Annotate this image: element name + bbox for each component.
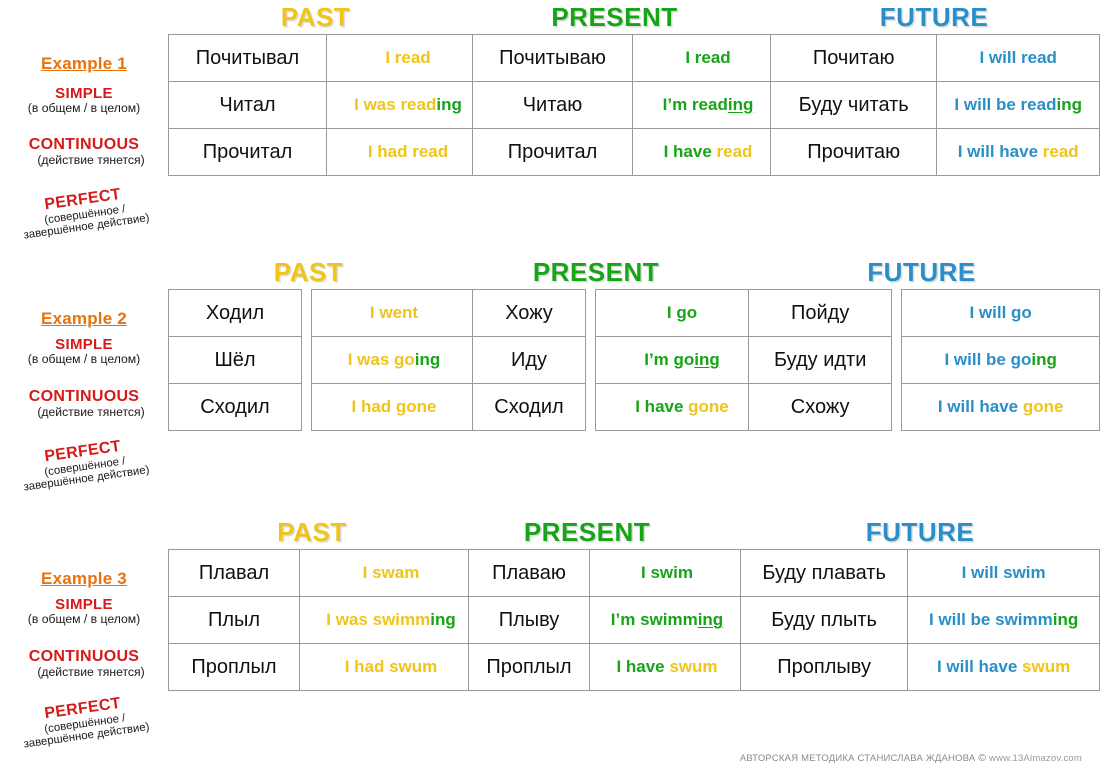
verb-base: I had swum bbox=[345, 657, 438, 676]
table-row: ПроплылI have swum bbox=[469, 644, 745, 691]
english-cell: I will have gone bbox=[902, 384, 1100, 431]
aspect-label-perfect: PERFECT(совершённое /завершённое действи… bbox=[0, 180, 171, 245]
verb-base: I will be read bbox=[954, 95, 1056, 114]
tense-table: ПочитываюI readЧитаюI’m readingПрочиталI… bbox=[472, 34, 784, 176]
verb-base: I read bbox=[685, 48, 730, 67]
tense-table-group: ПочитаюI will readБуду читатьI will be r… bbox=[770, 34, 1100, 176]
copyright-icon: © bbox=[978, 752, 986, 764]
aspect-subtitle: (действие тянется) bbox=[14, 666, 168, 679]
suffix-ing: ing bbox=[430, 610, 456, 629]
russian-cell: Хожу bbox=[473, 290, 586, 337]
table-row: Буду плаватьI will swim bbox=[741, 550, 1100, 597]
english-table: I will goI will be goingI will have gone bbox=[901, 289, 1100, 431]
tense-heading-present: PRESENT bbox=[462, 517, 712, 547]
english-cell: I went bbox=[312, 290, 477, 337]
verb-base: I was read bbox=[354, 95, 436, 114]
tense-heading-past: PAST bbox=[168, 517, 456, 547]
russian-cell: Прочитаю bbox=[771, 129, 937, 176]
russian-cell: Схожу bbox=[749, 384, 892, 431]
tense-table-group: ХожуИдуСходилI goI’m goingI have gone bbox=[472, 289, 769, 431]
table-row: ПрочитаюI will have read bbox=[771, 129, 1100, 176]
english-cell: I will have read bbox=[937, 129, 1100, 176]
example-label-column: Example 2SIMPLE(в общем / в целом)CONTIN… bbox=[0, 289, 168, 494]
russian-cell: Плыву bbox=[469, 597, 590, 644]
english-cell: I read bbox=[633, 35, 784, 82]
verb-base: I will have bbox=[937, 657, 1022, 676]
table-row: Пойду bbox=[749, 290, 892, 337]
suffix-ing: ing bbox=[1053, 610, 1079, 629]
tense-table-group: ПочитываюI readЧитаюI’m readingПрочиталI… bbox=[472, 34, 784, 176]
aspect-label-simple: SIMPLE(в общем / в целом) bbox=[0, 597, 168, 626]
suffix-ing: ing bbox=[728, 95, 754, 114]
aspect-subtitle: (в общем / в целом) bbox=[0, 102, 168, 115]
tense-heading-past: PAST bbox=[168, 257, 449, 287]
english-cell: I’m going bbox=[596, 337, 769, 384]
russian-cell: Сходил bbox=[169, 384, 302, 431]
russian-cell: Почитывал bbox=[169, 35, 327, 82]
table-row: I was going bbox=[312, 337, 477, 384]
table-row: ПлаваюI swim bbox=[469, 550, 745, 597]
table-row: ПлавалI swam bbox=[169, 550, 483, 597]
english-cell: I will read bbox=[937, 35, 1100, 82]
tense-table-group: ПлаваюI swimПлывуI’m swimmingПроплылI ha… bbox=[468, 549, 745, 691]
verb-base: I’m go bbox=[644, 350, 694, 369]
tense-table-group: ПочитывалI readЧиталI was readingПрочита… bbox=[168, 34, 490, 176]
example-title: Example 2 bbox=[0, 309, 168, 329]
russian-cell: Иду bbox=[473, 337, 586, 384]
english-cell: I had gone bbox=[312, 384, 477, 431]
table-row: ПрочиталI had read bbox=[169, 129, 490, 176]
tense-column-future: FUTUREБуду плаватьI will swimБуду плытьI… bbox=[740, 549, 1100, 691]
russian-cell: Шёл bbox=[169, 337, 302, 384]
english-cell: I had read bbox=[327, 129, 490, 176]
footer-text: АВТОРСКАЯ МЕТОДИКА СТАНИСЛАВА ЖДАНОВА bbox=[740, 753, 976, 764]
english-table: I wentI was goingI had gone bbox=[311, 289, 477, 431]
english-cell: I was going bbox=[312, 337, 477, 384]
tense-table-group: Буду плаватьI will swimБуду плытьI will … bbox=[740, 549, 1100, 691]
russian-cell: Плыл bbox=[169, 597, 300, 644]
english-cell: I will be going bbox=[902, 337, 1100, 384]
english-cell: I will be reading bbox=[937, 82, 1100, 129]
tense-table: Буду плаватьI will swimБуду плытьI will … bbox=[740, 549, 1100, 691]
verb-base: I went bbox=[370, 303, 418, 322]
table-row: ПроплывуI will have swum bbox=[741, 644, 1100, 691]
aspect-label-perfect: PERFECT(совершённое /завершённое действи… bbox=[0, 432, 171, 497]
russian-cell: Почитаю bbox=[771, 35, 937, 82]
suffix-ing: ing bbox=[694, 350, 720, 369]
past-participle: swum bbox=[1022, 657, 1070, 676]
table-row: ПочитывалI read bbox=[169, 35, 490, 82]
russian-cell: Плаваю bbox=[469, 550, 590, 597]
table-row: ПочитываюI read bbox=[473, 35, 784, 82]
verb-base: I will go bbox=[969, 303, 1031, 322]
english-cell: I have gone bbox=[596, 384, 769, 431]
russian-cell: Проплыл bbox=[469, 644, 590, 691]
tense-table-group: ПлавалI swamПлылI was swimmingПроплылI h… bbox=[168, 549, 483, 691]
table-row: ПлылI was swimming bbox=[169, 597, 483, 644]
tense-table: ПлаваюI swimПлывуI’m swimmingПроплылI ha… bbox=[468, 549, 745, 691]
grammar-chart-page: Example 1SIMPLE(в общем / в целом)CONTIN… bbox=[0, 0, 1100, 772]
russian-table: ПойдуБуду идтиСхожу bbox=[748, 289, 892, 431]
verb-base: I will have bbox=[958, 142, 1043, 161]
russian-cell: Проплыву bbox=[741, 644, 908, 691]
tense-column-past: PASTХодилШёлСходилI wentI was goingI had… bbox=[168, 289, 477, 431]
aspect-title: CONTINUOUS bbox=[0, 137, 168, 154]
past-participle: gone bbox=[688, 397, 729, 416]
aspect-label-continuous: CONTINUOUS(действие тянется) bbox=[0, 137, 168, 167]
tense-table: ПочитывалI readЧиталI was readingПрочита… bbox=[168, 34, 490, 176]
english-cell: I read bbox=[327, 35, 490, 82]
tense-column-future: FUTUREПойдуБуду идтиСхожуI will goI will… bbox=[748, 289, 1100, 431]
table-row: Сходил bbox=[169, 384, 302, 431]
english-cell: I swim bbox=[590, 550, 745, 597]
suffix-ing: ing bbox=[1031, 350, 1057, 369]
russian-cell: Буду плавать bbox=[741, 550, 908, 597]
russian-cell: Прочитал bbox=[169, 129, 327, 176]
russian-cell: Плавал bbox=[169, 550, 300, 597]
tense-heading-future: FUTURE bbox=[748, 257, 1095, 287]
aspect-title: SIMPLE bbox=[0, 337, 168, 353]
tense-column-present: PRESENTПочитываюI readЧитаюI’m readingПр… bbox=[472, 34, 784, 176]
table-row: Буду читатьI will be reading bbox=[771, 82, 1100, 129]
english-cell: I’m reading bbox=[633, 82, 784, 129]
aspect-label-simple: SIMPLE(в общем / в целом) bbox=[0, 337, 168, 366]
russian-cell: Почитываю bbox=[473, 35, 633, 82]
table-row: ПрочиталI have read bbox=[473, 129, 784, 176]
table-row: Шёл bbox=[169, 337, 302, 384]
example-label-column: Example 3SIMPLE(в общем / в целом)CONTIN… bbox=[0, 549, 168, 754]
aspect-subtitle: (действие тянется) bbox=[14, 154, 168, 167]
verb-base: I have bbox=[635, 397, 688, 416]
aspect-title: CONTINUOUS bbox=[0, 649, 168, 666]
tense-column-present: PRESENTПлаваюI swimПлывуI’m swimmingПроп… bbox=[468, 549, 745, 691]
english-cell: I will have swum bbox=[908, 644, 1100, 691]
english-cell: I will swim bbox=[908, 550, 1100, 597]
verb-base: I read bbox=[385, 48, 430, 67]
russian-table: ХожуИдуСходил bbox=[472, 289, 586, 431]
verb-base: I had read bbox=[368, 142, 448, 161]
russian-cell: Буду плыть bbox=[741, 597, 908, 644]
english-cell: I will go bbox=[902, 290, 1100, 337]
table-row: Сходил bbox=[473, 384, 586, 431]
table-row: ЧиталI was reading bbox=[169, 82, 490, 129]
table-row: I have gone bbox=[596, 384, 769, 431]
tense-column-past: PASTПочитывалI readЧиталI was readingПро… bbox=[168, 34, 490, 176]
example-title: Example 1 bbox=[0, 54, 168, 74]
tense-heading-future: FUTURE bbox=[740, 517, 1100, 547]
table-row: Ходил bbox=[169, 290, 302, 337]
suffix-ing: ing bbox=[415, 350, 441, 369]
verb-base: I swim bbox=[641, 563, 693, 582]
verb-base: I had gone bbox=[352, 397, 437, 416]
russian-cell: Ходил bbox=[169, 290, 302, 337]
aspect-label-simple: SIMPLE(в общем / в целом) bbox=[0, 86, 168, 115]
aspect-subtitle: (действие тянется) bbox=[14, 406, 168, 419]
footer-attribution: АВТОРСКАЯ МЕТОДИКА СТАНИСЛАВА ЖДАНОВА © … bbox=[740, 752, 1082, 764]
tense-heading-present: PRESENT bbox=[472, 2, 757, 32]
suffix-ing: ing bbox=[1056, 95, 1082, 114]
aspect-label-perfect: PERFECT(совершённое /завершённое действи… bbox=[0, 689, 171, 754]
suffix-ing: ing bbox=[698, 610, 724, 629]
english-cell: I had swum bbox=[300, 644, 483, 691]
table-row: Схожу bbox=[749, 384, 892, 431]
english-cell: I will be swimming bbox=[908, 597, 1100, 644]
past-participle: read bbox=[717, 142, 753, 161]
table-row: I’m going bbox=[596, 337, 769, 384]
verb-base: I was go bbox=[348, 350, 415, 369]
example-label-column: Example 1SIMPLE(в общем / в целом)CONTIN… bbox=[0, 34, 168, 239]
verb-base: I have bbox=[616, 657, 669, 676]
table-row: I go bbox=[596, 290, 769, 337]
example-title: Example 3 bbox=[0, 569, 168, 589]
aspect-label-continuous: CONTINUOUS(действие тянется) bbox=[0, 649, 168, 679]
verb-base: I will read bbox=[979, 48, 1056, 67]
aspect-label-continuous: CONTINUOUS(действие тянется) bbox=[0, 389, 168, 419]
english-cell: I go bbox=[596, 290, 769, 337]
tense-heading-present: PRESENT bbox=[460, 257, 732, 287]
russian-cell: Читаю bbox=[473, 82, 633, 129]
verb-base: I go bbox=[667, 303, 697, 322]
aspect-title: CONTINUOUS bbox=[0, 389, 168, 406]
aspect-title: SIMPLE bbox=[0, 597, 168, 613]
table-row: I will go bbox=[902, 290, 1100, 337]
russian-cell: Прочитал bbox=[473, 129, 633, 176]
verb-base: I’m read bbox=[663, 95, 728, 114]
tense-heading-past: PAST bbox=[168, 2, 463, 32]
table-row: Буду плытьI will be swimming bbox=[741, 597, 1100, 644]
tense-column-present: PRESENTХожуИдуСходилI goI’m goingI have … bbox=[472, 289, 769, 431]
tense-column-past: PASTПлавалI swamПлылI was swimmingПроплы… bbox=[168, 549, 483, 691]
verb-base: I will have bbox=[938, 397, 1023, 416]
russian-cell: Буду идти bbox=[749, 337, 892, 384]
verb-base: I was swimm bbox=[326, 610, 430, 629]
russian-cell: Проплыл bbox=[169, 644, 300, 691]
verb-base: I’m swimm bbox=[611, 610, 698, 629]
table-row: I will be going bbox=[902, 337, 1100, 384]
russian-cell: Читал bbox=[169, 82, 327, 129]
table-row: Хожу bbox=[473, 290, 586, 337]
verb-base: I will be go bbox=[944, 350, 1031, 369]
english-cell: I have swum bbox=[590, 644, 745, 691]
tense-table-group: ПойдуБуду идтиСхожуI will goI will be go… bbox=[748, 289, 1100, 431]
russian-cell: Пойду bbox=[749, 290, 892, 337]
suffix-ing: ing bbox=[436, 95, 462, 114]
verb-base: I will swim bbox=[962, 563, 1046, 582]
tense-table: ПлавалI swamПлылI was swimmingПроплылI h… bbox=[168, 549, 483, 691]
tense-table-group: ХодилШёлСходилI wentI was goingI had gon… bbox=[168, 289, 477, 431]
russian-table: ХодилШёлСходил bbox=[168, 289, 302, 431]
english-cell: I have read bbox=[633, 129, 784, 176]
russian-cell: Буду читать bbox=[771, 82, 937, 129]
table-row: I went bbox=[312, 290, 477, 337]
tense-heading-future: FUTURE bbox=[770, 2, 1098, 32]
past-participle: read bbox=[1043, 142, 1079, 161]
english-cell: I’m swimming bbox=[590, 597, 745, 644]
past-participle: swum bbox=[669, 657, 717, 676]
table-row: ПочитаюI will read bbox=[771, 35, 1100, 82]
table-row: I had gone bbox=[312, 384, 477, 431]
english-cell: I swam bbox=[300, 550, 483, 597]
verb-base: I will be swimm bbox=[929, 610, 1053, 629]
table-row: ПлывуI’m swimming bbox=[469, 597, 745, 644]
tense-column-future: FUTUREПочитаюI will readБуду читатьI wil… bbox=[770, 34, 1100, 176]
table-row: ПроплылI had swum bbox=[169, 644, 483, 691]
aspect-subtitle: (в общем / в целом) bbox=[0, 353, 168, 366]
table-row: Иду bbox=[473, 337, 586, 384]
footer-url: www.13Almazov.com bbox=[989, 753, 1082, 764]
table-row: Буду идти bbox=[749, 337, 892, 384]
russian-cell: Сходил bbox=[473, 384, 586, 431]
english-cell: I was reading bbox=[327, 82, 490, 129]
verb-base: I swam bbox=[363, 563, 420, 582]
table-row: I will have gone bbox=[902, 384, 1100, 431]
aspect-subtitle: (в общем / в целом) bbox=[0, 613, 168, 626]
english-cell: I was swimming bbox=[300, 597, 483, 644]
table-row: ЧитаюI’m reading bbox=[473, 82, 784, 129]
verb-base: I have bbox=[664, 142, 717, 161]
past-participle: gone bbox=[1023, 397, 1064, 416]
aspect-title: SIMPLE bbox=[0, 86, 168, 102]
tense-table: ПочитаюI will readБуду читатьI will be r… bbox=[770, 34, 1100, 176]
english-table: I goI’m goingI have gone bbox=[595, 289, 769, 431]
